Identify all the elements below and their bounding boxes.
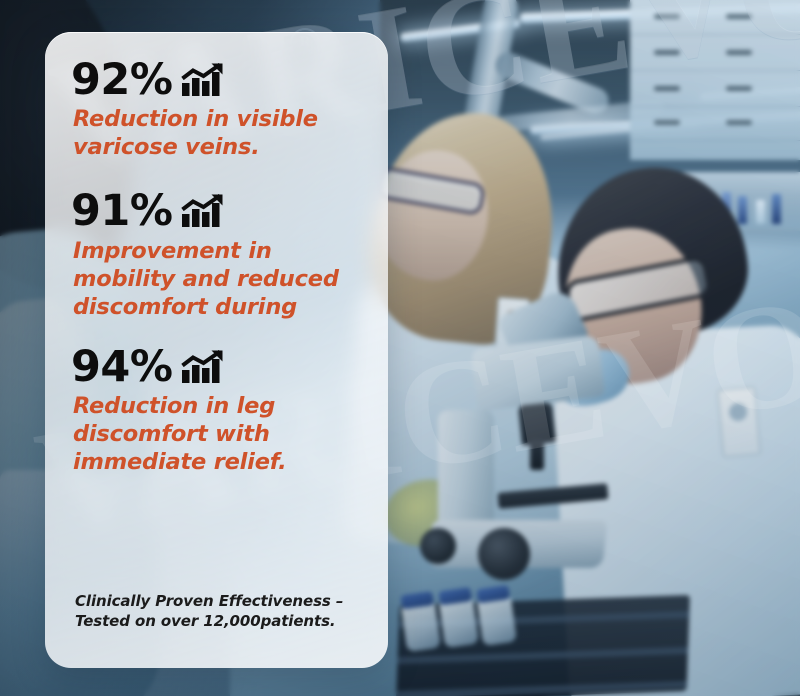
stat-headline: 94% [71, 345, 362, 390]
stat-headline: 92% [71, 58, 362, 103]
stat-description: Reduction in visible varicose veins. [73, 105, 362, 161]
promo-image-canvas: VARICEVO VARICEVO R 92% [0, 0, 800, 696]
stats-glass-card: 92% Reduction in visible varicose veins. [45, 32, 388, 668]
stat-description: Improvement in mobility and reduced disc… [73, 237, 362, 321]
growth-bar-chart-icon [181, 350, 227, 389]
stat-item: 94% Reduction in leg discomfort with imm… [71, 345, 362, 477]
growth-bar-chart-icon [181, 194, 227, 233]
growth-bar-chart-icon [181, 63, 227, 102]
stat-percent-value: 94% [71, 345, 172, 390]
stat-item: 92% Reduction in visible varicose veins. [71, 58, 362, 161]
stat-description: Reduction in leg discomfort with immedia… [73, 392, 362, 476]
stat-percent-value: 92% [71, 58, 172, 103]
stat-percent-value: 91% [71, 189, 172, 234]
stats-list: 92% Reduction in visible varicose veins. [71, 58, 362, 478]
stat-item: 91% Improvement in mobility and reduced … [71, 189, 362, 321]
stat-headline: 91% [71, 189, 362, 234]
clinical-proof-note: Clinically Proven Effectiveness – Tested… [71, 592, 362, 650]
